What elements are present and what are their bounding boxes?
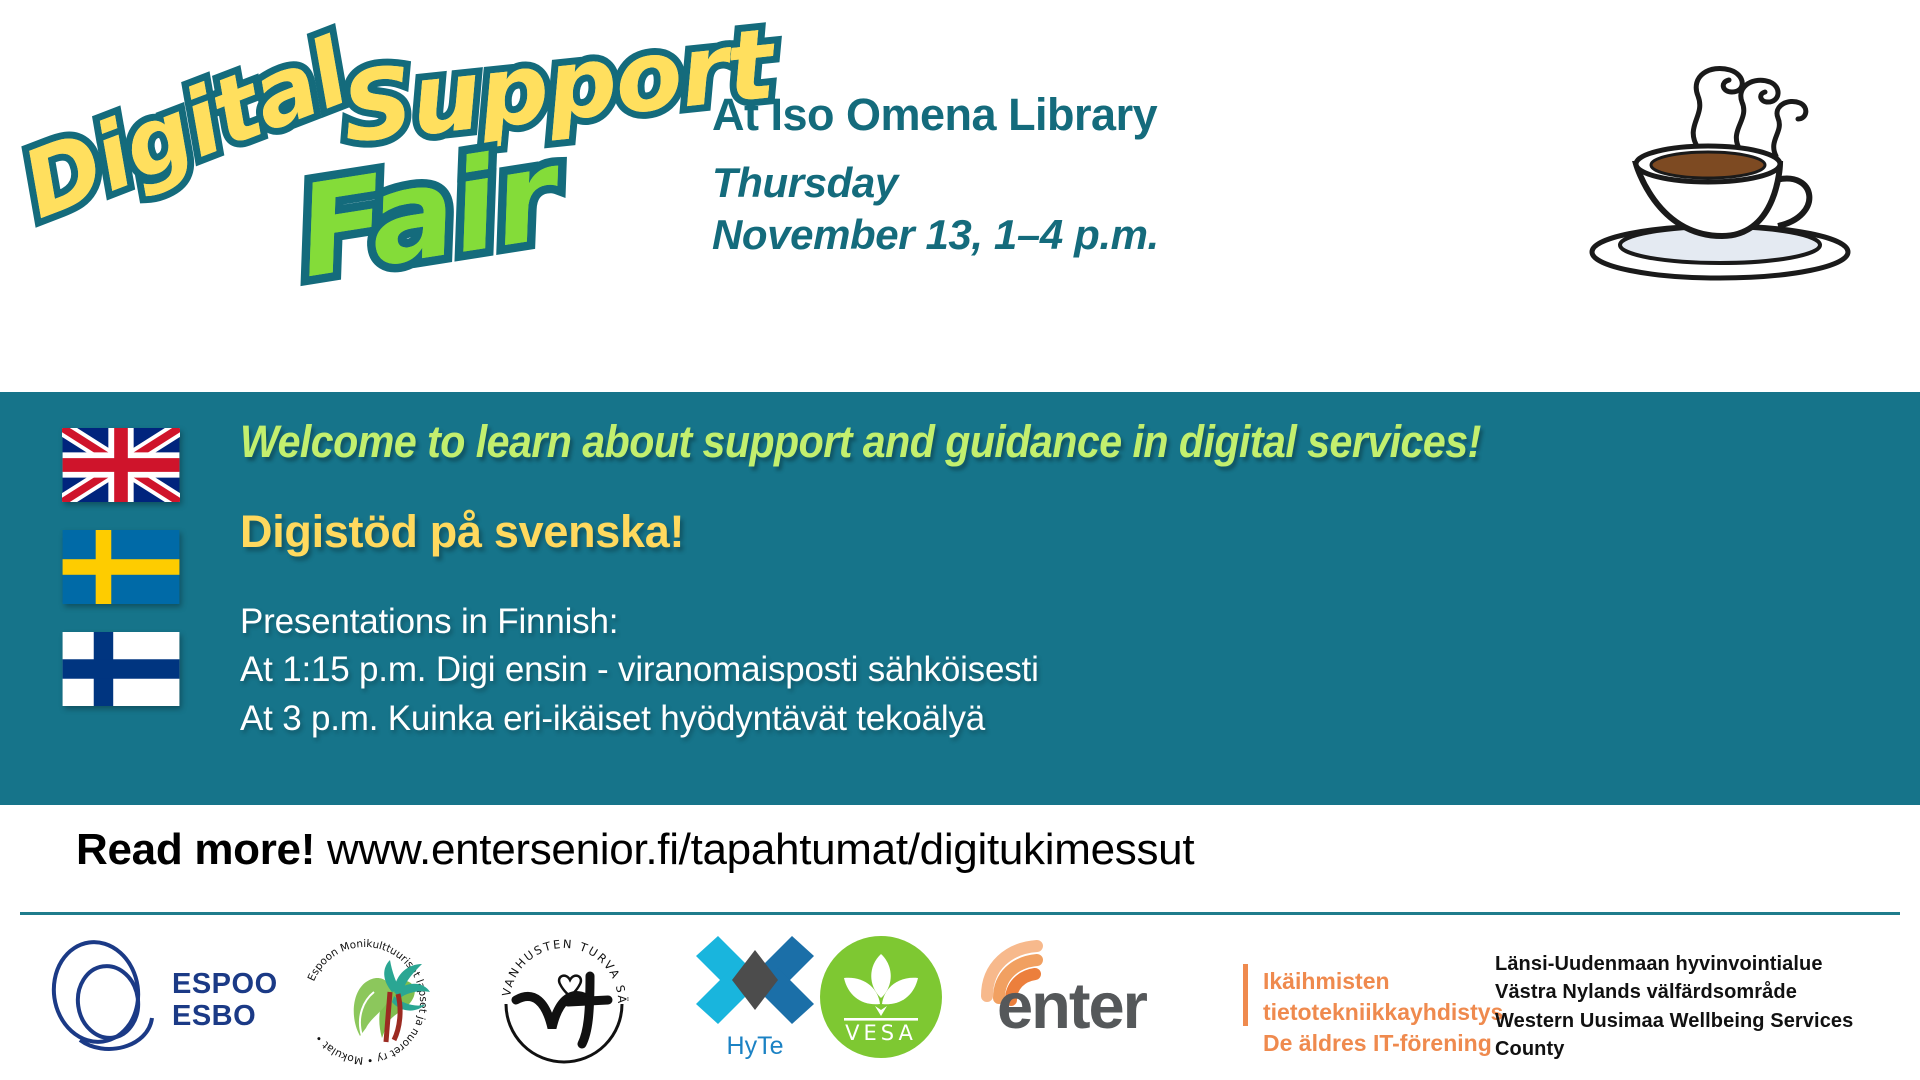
footer-divider [20, 912, 1900, 915]
mokulat-logo: Espoon Monikulttuuriset lapset ja nuoret… [290, 926, 440, 1072]
espoo-line-2: ESBO [172, 1000, 278, 1032]
finnish-session-two: At 3 p.m. Kuinka eri-ikäiset hyödyntävät… [240, 695, 1900, 744]
enter-wordmark: enter [997, 968, 1146, 1043]
espoo-line-1: ESPOO [172, 968, 278, 1000]
read-more-band: Read more! www.entersenior.fi/tapahtumat… [0, 805, 1920, 913]
county-wordmark: Länsi-Uudenmaan hyvinvointialue Västra N… [1495, 950, 1915, 1064]
vesa-logo: VESA [820, 936, 942, 1058]
finnish-session-one: At 1:15 p.m. Digi ensin - viranomaispost… [240, 646, 1900, 695]
finnish-heading: Presentations in Finnish: [240, 598, 1900, 647]
enter-logo: enter Ikäihmisten tietotekniikkayhdistys… [975, 942, 1475, 1052]
espoo-esbo-wordmark: ESPOO ESBO [172, 968, 278, 1033]
flag-column [62, 416, 188, 706]
county-line-en: Western Uusimaa Wellbeing Services Count… [1495, 1007, 1915, 1064]
enter-divider [1243, 964, 1248, 1026]
event-weekday: Thursday [712, 157, 1372, 209]
event-date-block: Thursday November 13, 1–4 p.m. [712, 157, 1372, 261]
finnish-message-block: Presentations in Finnish: At 1:15 p.m. D… [240, 598, 1900, 744]
header-text-block: At Iso Omena Library Thursday November 1… [712, 88, 1372, 261]
partner-logo-strip: ESPOO ESBO Espoon Monikulttuuriset lapse… [0, 918, 1920, 1080]
sweden-flag-icon [62, 530, 188, 604]
enter-tagline-sv: De äldres IT-förening [1263, 1028, 1503, 1059]
hyte-logo: HyTe [690, 932, 820, 1068]
event-url[interactable]: www.entersenior.fi/tapahtumat/digitukime… [327, 825, 1194, 874]
poster-root: Digital Digital Support Support Fair Fai… [0, 0, 1920, 1080]
county-line-fi: Länsi-Uudenmaan hyvinvointialue [1495, 950, 1915, 978]
western-uusimaa-county-logo: Länsi-Uudenmaan hyvinvointialue Västra N… [1495, 950, 1915, 1050]
swedish-message: Digistöd på svenska! [240, 506, 1900, 558]
header-band: Digital Digital Support Support Fair Fai… [0, 0, 1920, 392]
vesa-wordmark: VESA [845, 1021, 917, 1045]
enter-tagline-fi: Ikäihmisten tietotekniikkayhdistys [1263, 966, 1503, 1028]
enter-tagline: Ikäihmisten tietotekniikkayhdistys De äl… [1263, 966, 1503, 1058]
svg-text:VANHUSTEN TURVA SÄÄTIÖ: VANHUSTEN TURVA SÄÄTIÖ [490, 928, 630, 1006]
read-more-line: Read more! www.entersenior.fi/tapahtumat… [76, 825, 1194, 875]
coffee-cup-icon [1580, 30, 1860, 290]
english-message: Welcome to learn about support and guida… [240, 416, 1759, 468]
venue-title: At Iso Omena Library [712, 88, 1372, 141]
vanhusten-turva-saatio-logo: VANHUSTEN TURVA SÄÄTIÖ [490, 928, 638, 1070]
read-more-label: Read more! [76, 825, 315, 874]
event-datetime: November 13, 1–4 p.m. [712, 209, 1372, 261]
language-text-column: Welcome to learn about support and guida… [240, 416, 1900, 743]
languages-band: Welcome to learn about support and guida… [0, 392, 1920, 805]
finland-flag-icon [62, 632, 188, 706]
county-line-sv: Västra Nylands välfärdsområde [1495, 978, 1915, 1006]
uk-flag-icon [62, 428, 188, 502]
espoo-esbo-logo: ESPOO ESBO [44, 936, 264, 1056]
logotype-word-fair: Fair [289, 121, 567, 307]
languages-content: Welcome to learn about support and guida… [0, 392, 1920, 805]
hyte-wordmark: HyTe [690, 1032, 820, 1061]
